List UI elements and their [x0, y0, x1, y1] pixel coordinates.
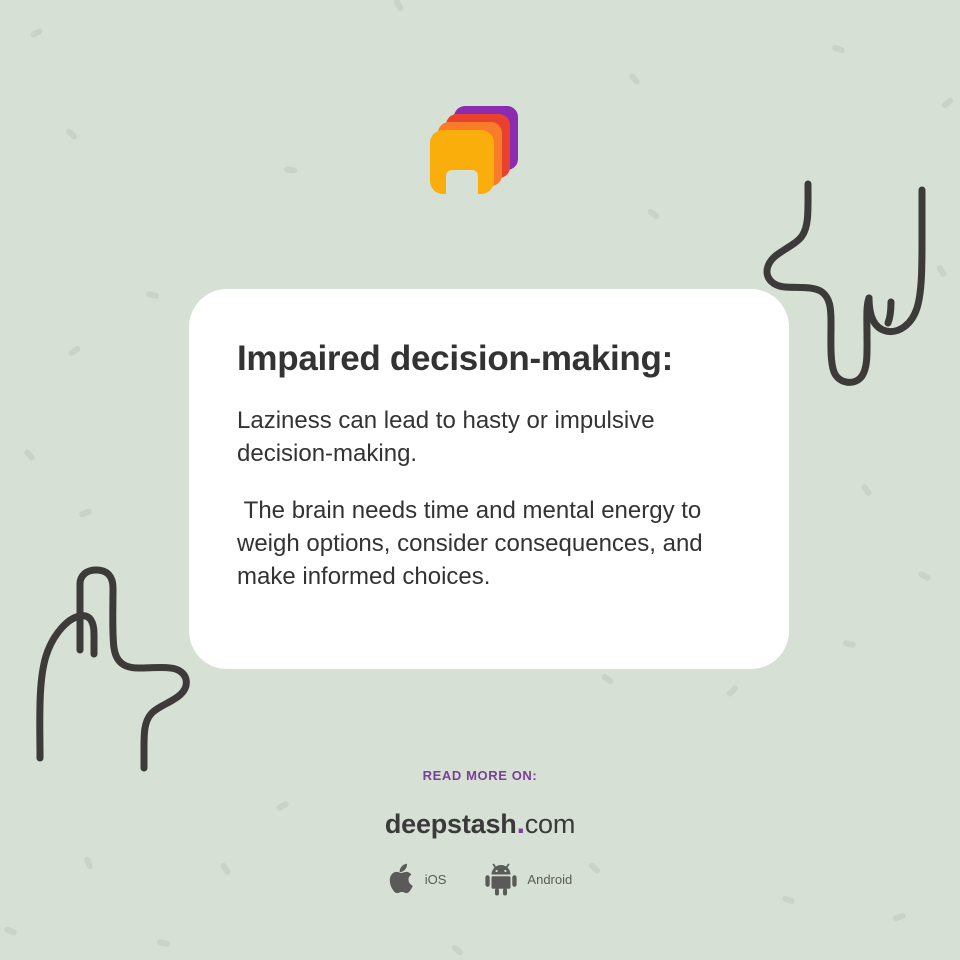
- confetti-dash: [935, 264, 947, 278]
- confetti-dash: [29, 27, 43, 38]
- brand-dot: .: [517, 807, 525, 840]
- card-paragraph-1: Laziness can lead to hasty or impulsive …: [237, 404, 741, 470]
- confetti-dash: [892, 912, 906, 922]
- quote-card: Impaired decision-making: Laziness can l…: [189, 289, 789, 669]
- deepstash-quote-card: Impaired decision-making: Laziness can l…: [0, 0, 960, 960]
- apple-icon: [388, 863, 416, 895]
- confetti-dash: [67, 345, 81, 357]
- logo-amber-layer: [430, 130, 494, 194]
- confetti-dash: [451, 944, 465, 957]
- confetti-dash: [843, 640, 857, 649]
- card-paragraph-2: The brain needs time and mental energy t…: [237, 494, 741, 593]
- android-store-label: Android: [527, 872, 572, 887]
- confetti-dash: [78, 508, 92, 518]
- brand-wordmark[interactable]: deepstash.com: [0, 809, 960, 840]
- brand-tld: com: [525, 809, 575, 839]
- logo-center-cutout: [446, 170, 478, 202]
- confetti-dash: [917, 570, 931, 582]
- confetti-dash: [726, 684, 739, 697]
- confetti-dash: [23, 448, 36, 462]
- confetti-dash: [941, 97, 955, 110]
- confetti-dash: [831, 44, 845, 54]
- confetti-dash: [628, 72, 641, 86]
- confetti-dash: [393, 0, 404, 12]
- confetti-dash: [600, 673, 614, 685]
- store-badges: iOS Android: [0, 862, 960, 896]
- confetti-dash: [647, 208, 661, 221]
- confetti-dash: [3, 926, 17, 937]
- footer: READ MORE ON: deepstash.com iOS: [0, 768, 960, 896]
- confetti-dash: [145, 291, 159, 300]
- brand-name: deepstash: [385, 809, 517, 839]
- android-icon: [484, 862, 518, 896]
- ios-store-badge[interactable]: iOS: [388, 863, 447, 895]
- confetti-dash: [65, 127, 79, 140]
- confetti-dash: [157, 939, 171, 948]
- read-more-label: READ MORE ON:: [0, 768, 960, 783]
- deepstash-logo: [430, 106, 518, 196]
- confetti-dash: [860, 483, 872, 497]
- android-store-badge[interactable]: Android: [484, 862, 572, 896]
- pointing-hand-up-icon: [24, 562, 204, 774]
- card-title: Impaired decision-making:: [237, 339, 741, 378]
- confetti-dash: [781, 895, 795, 904]
- confetti-dash: [284, 166, 298, 174]
- ios-store-label: iOS: [425, 872, 447, 887]
